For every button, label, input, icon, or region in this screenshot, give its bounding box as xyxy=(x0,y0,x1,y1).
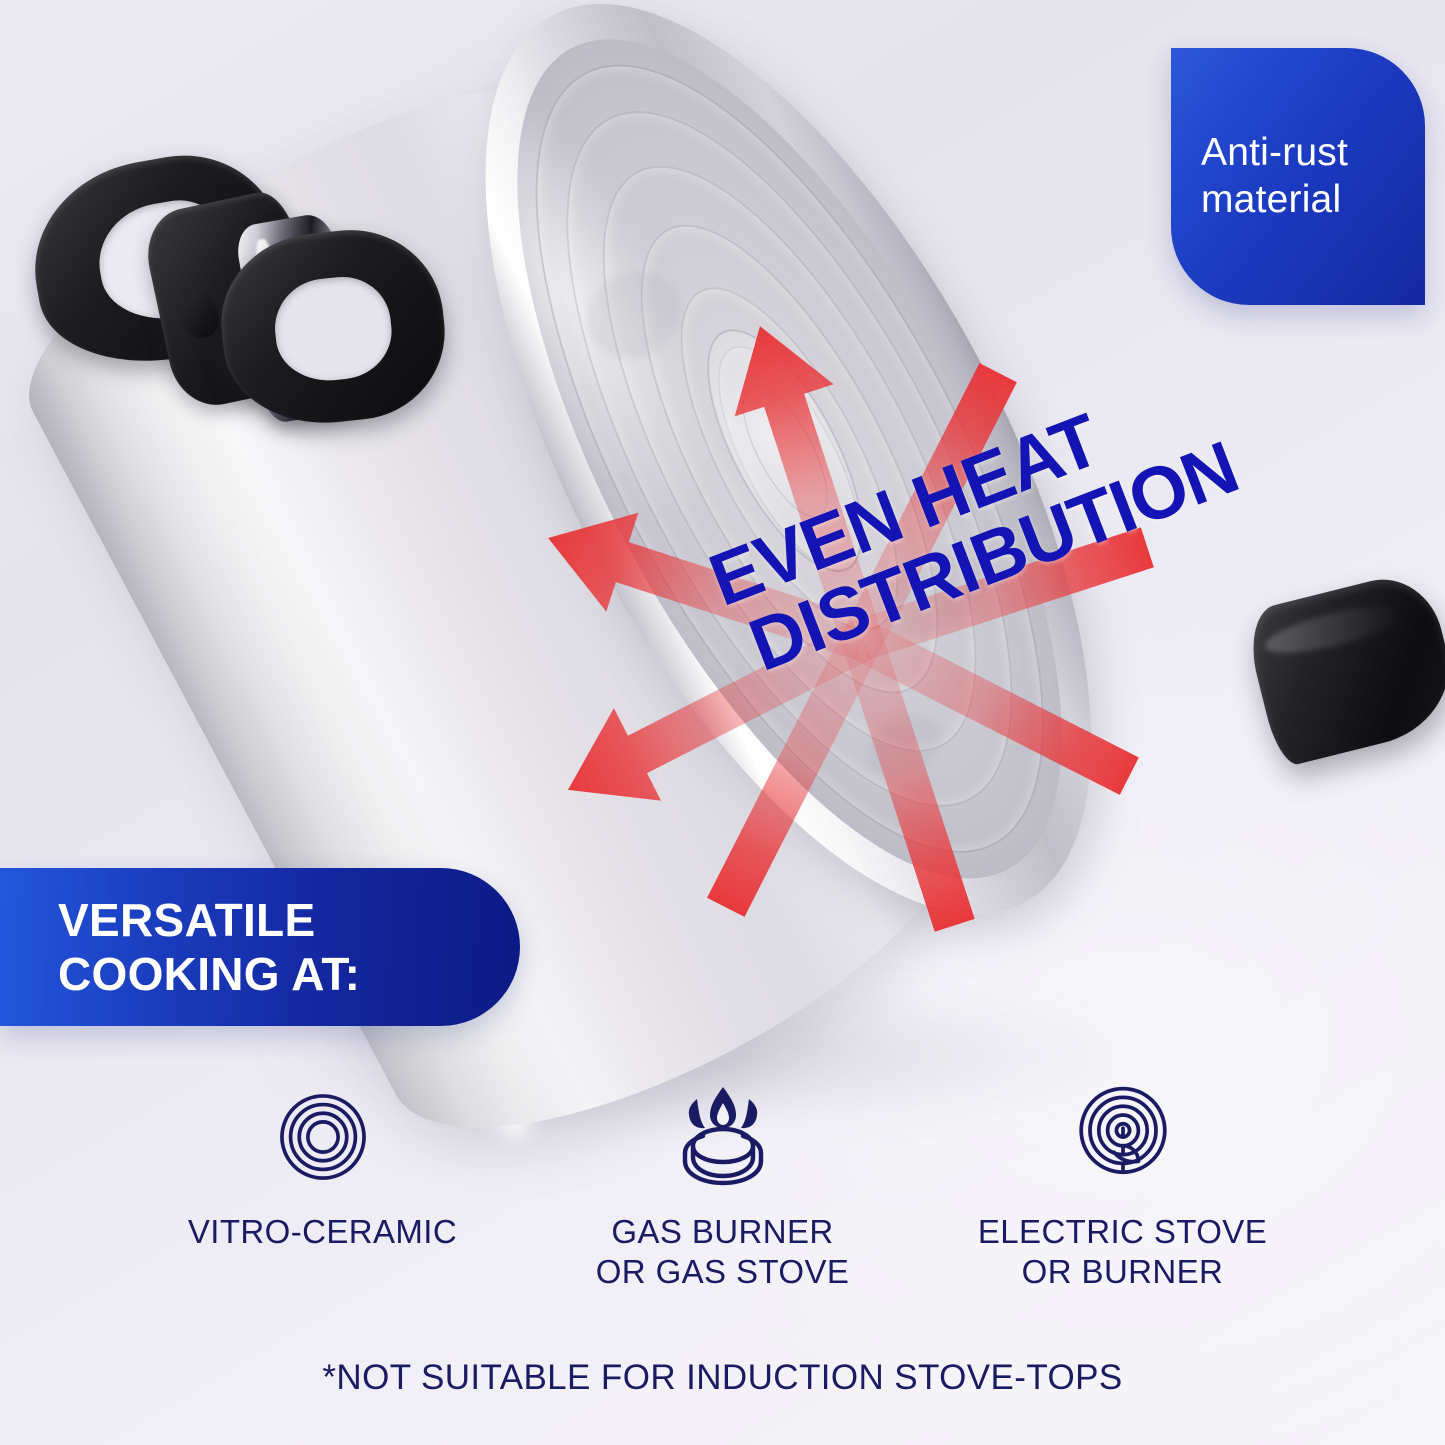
pot-handle-icon xyxy=(26,140,466,500)
induction-disclaimer: *NOT SUITABLE FOR INDUCTION STOVE-TOPS xyxy=(0,1358,1445,1398)
infographic-canvas: EVEN HEAT DISTRIBUTION Anti-rust materia… xyxy=(0,0,1445,1445)
cooktop-compatibility-row: VITRO-CERAMIC xyxy=(0,1078,1445,1293)
feature-vitro-ceramic: VITRO-CERAMIC xyxy=(123,1078,523,1252)
versatile-line-1: VERSATILE xyxy=(58,894,315,946)
feature-label-electric-stove: ELECTRIC STOVE OR BURNER xyxy=(978,1212,1267,1293)
pot-side-handle xyxy=(1241,567,1445,768)
feature-label-gas-burner: GAS BURNER OR GAS STOVE xyxy=(596,1212,850,1293)
electric-stove-icon xyxy=(1068,1078,1178,1196)
feature-label-vitro-ceramic: VITRO-CERAMIC xyxy=(188,1212,457,1252)
anti-rust-badge[interactable]: Anti-rust material xyxy=(1171,48,1425,305)
feature-electric-stove: ELECTRIC STOVE OR BURNER xyxy=(923,1078,1323,1293)
anti-rust-badge-label: Anti-rust material xyxy=(1201,130,1395,222)
versatile-cooking-banner[interactable]: VERSATILECOOKING AT: xyxy=(0,868,520,1026)
vitro-ceramic-icon xyxy=(269,1078,377,1196)
versatile-banner-label: VERSATILECOOKING AT: xyxy=(58,893,360,1002)
gas-burner-icon xyxy=(663,1078,783,1196)
feature-gas-burner: GAS BURNER OR GAS STOVE xyxy=(523,1078,923,1293)
versatile-line-2: COOKING AT: xyxy=(58,948,360,1000)
